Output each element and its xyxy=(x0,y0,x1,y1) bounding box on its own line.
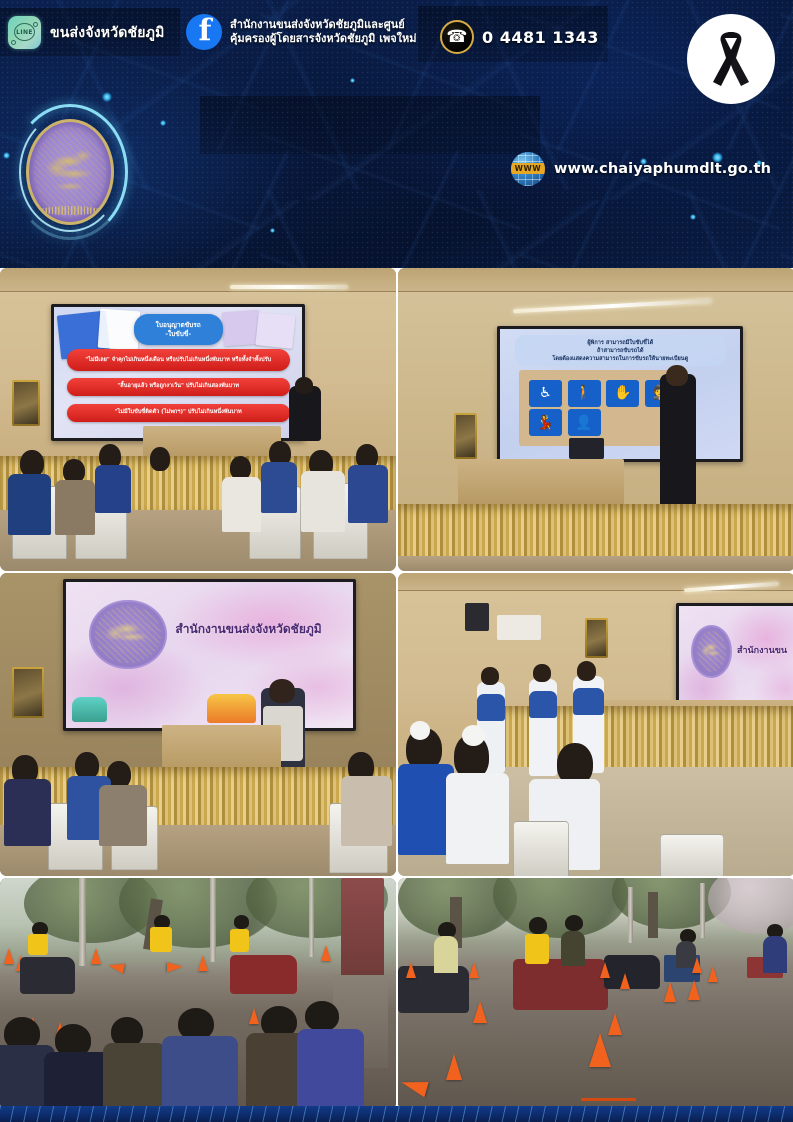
black-ribbon-icon xyxy=(687,14,775,104)
slide-heading: ผู้พิการ สามารถมีใบขับขี่ได้ ถ้าสามารถขั… xyxy=(515,335,726,366)
sparkle-dot xyxy=(160,120,166,126)
prosthetic-arm-icon: ✋ xyxy=(606,380,639,407)
phone-icon: ☎ xyxy=(440,20,474,54)
photo-motorcycle-course-practice[interactable] xyxy=(398,878,793,1110)
blind-cane-icon: 🚶 xyxy=(568,380,601,407)
facebook-line1: สำนักงานขนส่งจังหวัดชัยภูมิและศูนย์ xyxy=(230,18,417,32)
slide-title-partial: สำนักงานขน xyxy=(737,643,793,657)
phone-contact[interactable]: ☎ 0 4481 1343 xyxy=(440,20,599,54)
slide-title: สำนักงานขนส่งจังหวัดชัยภูมิ xyxy=(175,620,347,639)
globe-www-icon: WWW xyxy=(511,152,545,186)
phone-number: 0 4481 1343 xyxy=(482,28,599,47)
provincial-seal-emblem xyxy=(12,104,128,240)
website-url: www.chaiyaphumdlt.go.th xyxy=(554,161,771,177)
slide-row: "ไม่มีเลย" จำคุกไม่เกินหนึ่งเดือน หรือปร… xyxy=(67,349,290,371)
slide-title-bubble: ใบอนุญาตขับรถ -ใบขับขี่- xyxy=(134,314,223,345)
facebook-icon xyxy=(186,14,222,50)
header-panel-mid xyxy=(200,96,540,154)
facebook-contact[interactable]: สำนักงานขนส่งจังหวัดชัยภูมิและศูนย์ คุ้ม… xyxy=(186,14,417,50)
kneeling-icon: 💃 xyxy=(529,409,562,436)
sparkle-dot xyxy=(350,78,355,83)
slide-row: "ไม่มีใบขับขี่ติดตัว (ไม่พกฯ)" ปรับไม่เก… xyxy=(67,404,290,422)
line-badge-text: LINE xyxy=(16,29,33,36)
sparkle-dot xyxy=(102,92,112,102)
photo-officer-office-slide[interactable]: สำนักงานขนส่งจังหวัดชัยภูมิ xyxy=(0,573,396,876)
photo-speaker-accessibility-slide[interactable]: ผู้พิการ สามารถมีใบขับขี่ได้ ถ้าสามารถขั… xyxy=(398,268,793,571)
slide-row: "สิ้นอายุแล้ว หรือถูกงาเว้น" ปรับไม่เกิน… xyxy=(67,378,290,396)
footer-strip xyxy=(0,1106,793,1122)
line-contact[interactable]: LINE ขนส่งจังหวัดชัยภูมิ xyxy=(8,16,165,49)
www-badge: WWW xyxy=(511,163,545,174)
wheelchair-icon: ♿ xyxy=(529,380,562,407)
photo-seminar-license-slide[interactable]: ใบอนุญาตขับรถ -ใบขับขี่- "ไม่มีเลย" จำคุ… xyxy=(0,268,396,571)
line-label: ขนส่งจังหวัดชัยภูมิ xyxy=(50,22,165,44)
photo-students-microphone[interactable]: สำนักงานขน xyxy=(398,573,793,876)
header-banner: LINE ขนส่งจังหวัดชัยภูมิ สำนักงานขนส่งจั… xyxy=(0,0,793,268)
slide-seal-emblem xyxy=(691,625,732,678)
website-link[interactable]: WWW www.chaiyaphumdlt.go.th xyxy=(511,152,771,186)
sparkle-dot xyxy=(690,214,696,220)
facebook-line2: คุ้มครองผู้โดยสารจังหวัดชัยภูมิ เพจใหม่ xyxy=(230,32,417,46)
sparkle-dot xyxy=(270,228,275,233)
line-app-icon: LINE xyxy=(8,16,41,49)
photo-motorcycle-training-cones[interactable] xyxy=(0,878,396,1110)
sparkle-dot xyxy=(3,152,10,159)
photo-gallery: ใบอนุญาตขับรถ -ใบขับขี่- "ไม่มีเลย" จำคุ… xyxy=(0,268,793,1106)
amputee-icon: 👤 xyxy=(568,409,601,436)
ribbon-shape xyxy=(703,24,759,94)
slide-seal-emblem xyxy=(89,600,166,670)
